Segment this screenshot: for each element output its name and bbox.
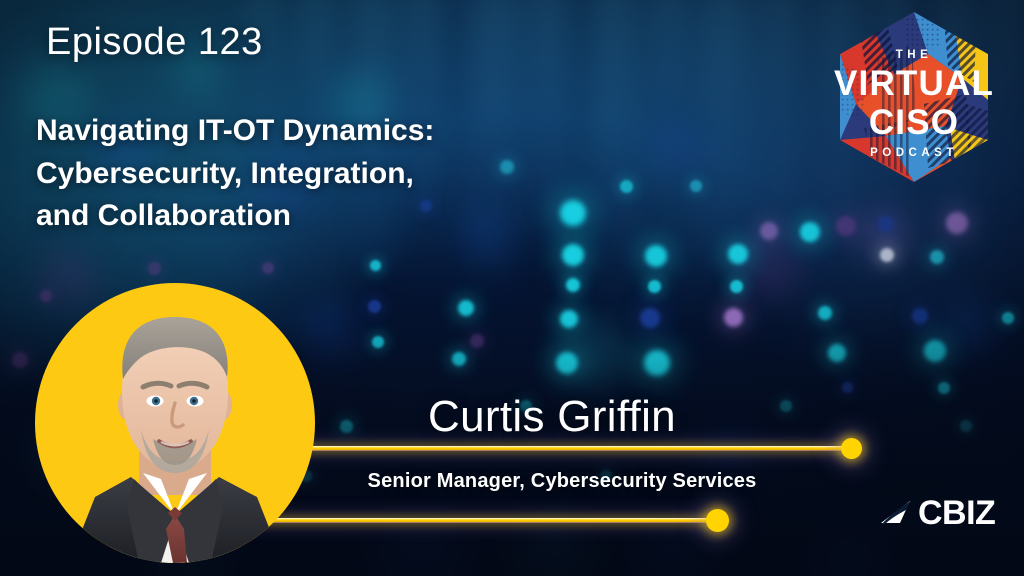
logo-the-text: THE <box>896 49 933 61</box>
logo-virtual-text: VIRTUAL <box>834 64 994 103</box>
title-line-3: and Collaboration <box>36 195 676 238</box>
episode-label: Episode 123 <box>46 21 263 64</box>
virtual-ciso-podcast-logo: THE VIRTUAL CISO PODCAST <box>816 8 1012 186</box>
title-line-1: Navigating IT-OT Dynamics: <box>36 110 676 153</box>
podcast-logo-svg: THE VIRTUAL CISO PODCAST <box>816 8 1012 186</box>
title-line-2: Cybersecurity, Integration, <box>36 153 676 196</box>
logo-podcast-text: PODCAST <box>870 147 958 159</box>
page-title: Navigating IT-OT Dynamics: Cybersecurity… <box>36 110 676 238</box>
accent-line-upper <box>282 446 854 451</box>
cbiz-swoosh-icon <box>880 498 916 528</box>
avatar-circle <box>35 283 315 563</box>
cbiz-wordmark: CBIZ <box>918 496 995 530</box>
podcast-episode-graphic: Episode 123 Navigating IT-OT Dynamics: C… <box>0 0 1024 576</box>
accent-line-lower-dot <box>706 509 729 532</box>
avatar <box>35 283 315 563</box>
logo-ciso-text: CISO <box>869 103 959 142</box>
headshot-illustration <box>35 283 315 563</box>
cbiz-logo: CBIZ <box>880 496 995 530</box>
